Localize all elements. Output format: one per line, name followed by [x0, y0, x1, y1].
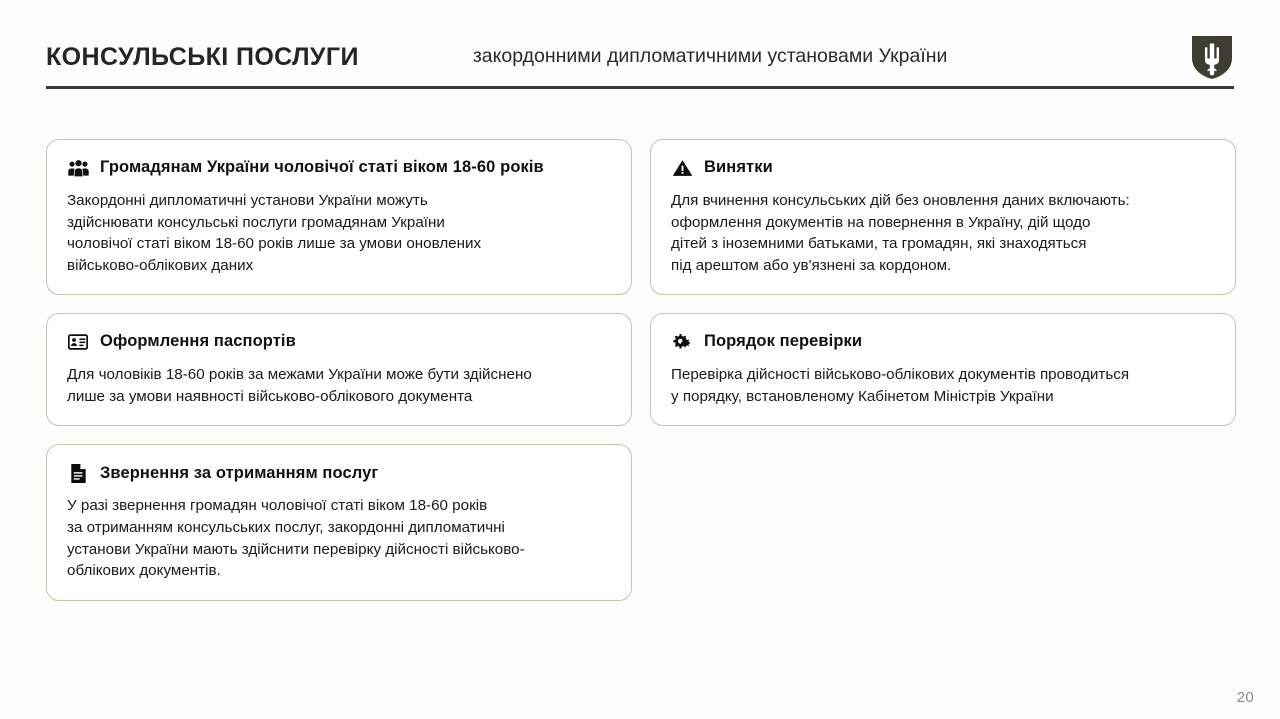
card-passports: Оформлення паспортів Для чоловіків 18-60… [46, 313, 632, 426]
card-exceptions: Винятки Для вчинення консульських дій бе… [650, 139, 1236, 295]
header-divider [46, 86, 1234, 89]
card-body: Закордонні дипломатичні установи України… [67, 190, 611, 276]
gears-icon [671, 331, 693, 353]
card-title: Громадянам України чоловічої статі віком… [100, 158, 544, 178]
page-number: 20 [1237, 689, 1254, 706]
page-title: КОНСУЛЬСЬКІ ПОСЛУГИ [46, 45, 359, 70]
card-header: Громадянам України чоловічої статі віком… [67, 157, 611, 179]
document-lines-icon [67, 462, 89, 484]
warning-triangle-icon [671, 157, 693, 179]
people-group-icon [67, 157, 89, 179]
card-body: Перевірка дійсності військово-облікових … [671, 364, 1215, 407]
card-title: Винятки [704, 158, 773, 178]
slide-header: КОНСУЛЬСЬКІ ПОСЛУГИ закордонними диплома… [46, 26, 1234, 88]
card-body: Для вчинення консульських дій без оновле… [671, 190, 1215, 276]
id-card-icon [67, 331, 89, 353]
card-header: Звернення за отриманням послуг [67, 462, 611, 484]
card-title: Оформлення паспортів [100, 332, 296, 352]
card-title: Порядок перевірки [704, 332, 862, 352]
card-procedure: Порядок перевірки Перевірка дійсності ві… [650, 313, 1236, 426]
right-column: Винятки Для вчинення консульських дій бе… [650, 139, 1236, 444]
card-body: Для чоловіків 18-60 років за межами Укра… [67, 364, 611, 407]
card-header: Порядок перевірки [671, 331, 1215, 353]
left-column: Громадянам України чоловічої статі віком… [46, 139, 632, 619]
page-subtitle: закордонними дипломатичними установами У… [473, 47, 948, 67]
card-header: Винятки [671, 157, 1215, 179]
card-citizens: Громадянам України чоловічої статі віком… [46, 139, 632, 295]
card-body: У разі звернення громадян чоловічої стат… [67, 495, 611, 581]
card-title: Звернення за отриманням послуг [100, 464, 378, 484]
ukraine-trident-shield-icon [1190, 34, 1234, 80]
slide: КОНСУЛЬСЬКІ ПОСЛУГИ закордонними диплома… [0, 0, 1280, 719]
card-header: Оформлення паспортів [67, 331, 611, 353]
card-requests: Звернення за отриманням послуг У разі зв… [46, 444, 632, 600]
